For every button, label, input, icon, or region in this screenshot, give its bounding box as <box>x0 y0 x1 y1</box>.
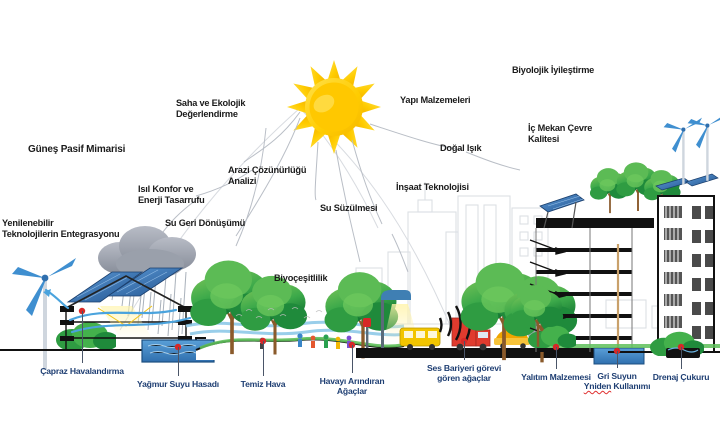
leader-line-gri-suyun-yeniden-kullanimi <box>617 351 618 368</box>
label-ic-mekan-cevre-kalitesi: İç Mekan Çevre Kalitesi <box>528 123 592 145</box>
label-saha-ve-ekolojik-degerlendirme: Saha ve Ekolojik Değerlendirme <box>176 98 245 120</box>
leader-line-drenaj-cukuru <box>681 347 682 369</box>
label-yapi-malzemeleri: Yapı Malzemeleri <box>400 95 470 106</box>
label-biyolojik-iyilestirme: Biyolojik İyileştirme <box>512 65 594 76</box>
label-dogal-isik: Doğal Işık <box>440 143 481 154</box>
label-drenaj-cukuru: Drenaj Çukuru <box>611 372 720 382</box>
label-biyocesitlilik: Biyoçeşitlilik <box>274 273 327 284</box>
greywater-line-2-rest: Kullanımı <box>611 381 650 391</box>
leader-line-temiz-hava <box>263 341 264 376</box>
label-insaat-teknolojisi: İnşaat Teknolojisi <box>396 182 469 193</box>
leader-line-havayi-arindiran-agaclar <box>352 345 353 373</box>
drainage-pit <box>666 348 700 358</box>
label-gunes-pasif-mimarisi: Güneş Pasif Mimarisi <box>28 144 125 156</box>
label-isil-konfor-ve-enerji-tasarrufu: Isıl Konfor ve Enerji Tasarrufu <box>138 184 205 206</box>
leader-line-capraz-havalandirma <box>82 311 83 363</box>
label-yenilenebilir-teknolojilerin-entegrasyonu: Yenilenebilir Teknolojilerin Entegrasyon… <box>2 218 119 240</box>
label-su-geri-donusumu: Su Geri Dönüşümü <box>165 218 245 229</box>
infographic-canvas: Güneş Pasif MimarisiYenilenebilir Teknol… <box>0 0 720 427</box>
label-capraz-havalandirma: Çapraz Havalandırma <box>12 366 152 376</box>
leader-line-yalitim-malzemesi <box>556 347 557 369</box>
leader-line-yagmur-suyu-hasadi <box>178 347 179 376</box>
leader-line-ses-bariyeri-gorevi-goren-agaclar <box>464 341 465 360</box>
label-arazi-cozunurlugu-analizi: Arazi Çözünürlüğü Analizi <box>228 165 306 187</box>
label-su-suzulmesi: Su Süzülmesi <box>320 203 377 214</box>
greywater-misspelled-word: Yniden <box>584 381 611 391</box>
